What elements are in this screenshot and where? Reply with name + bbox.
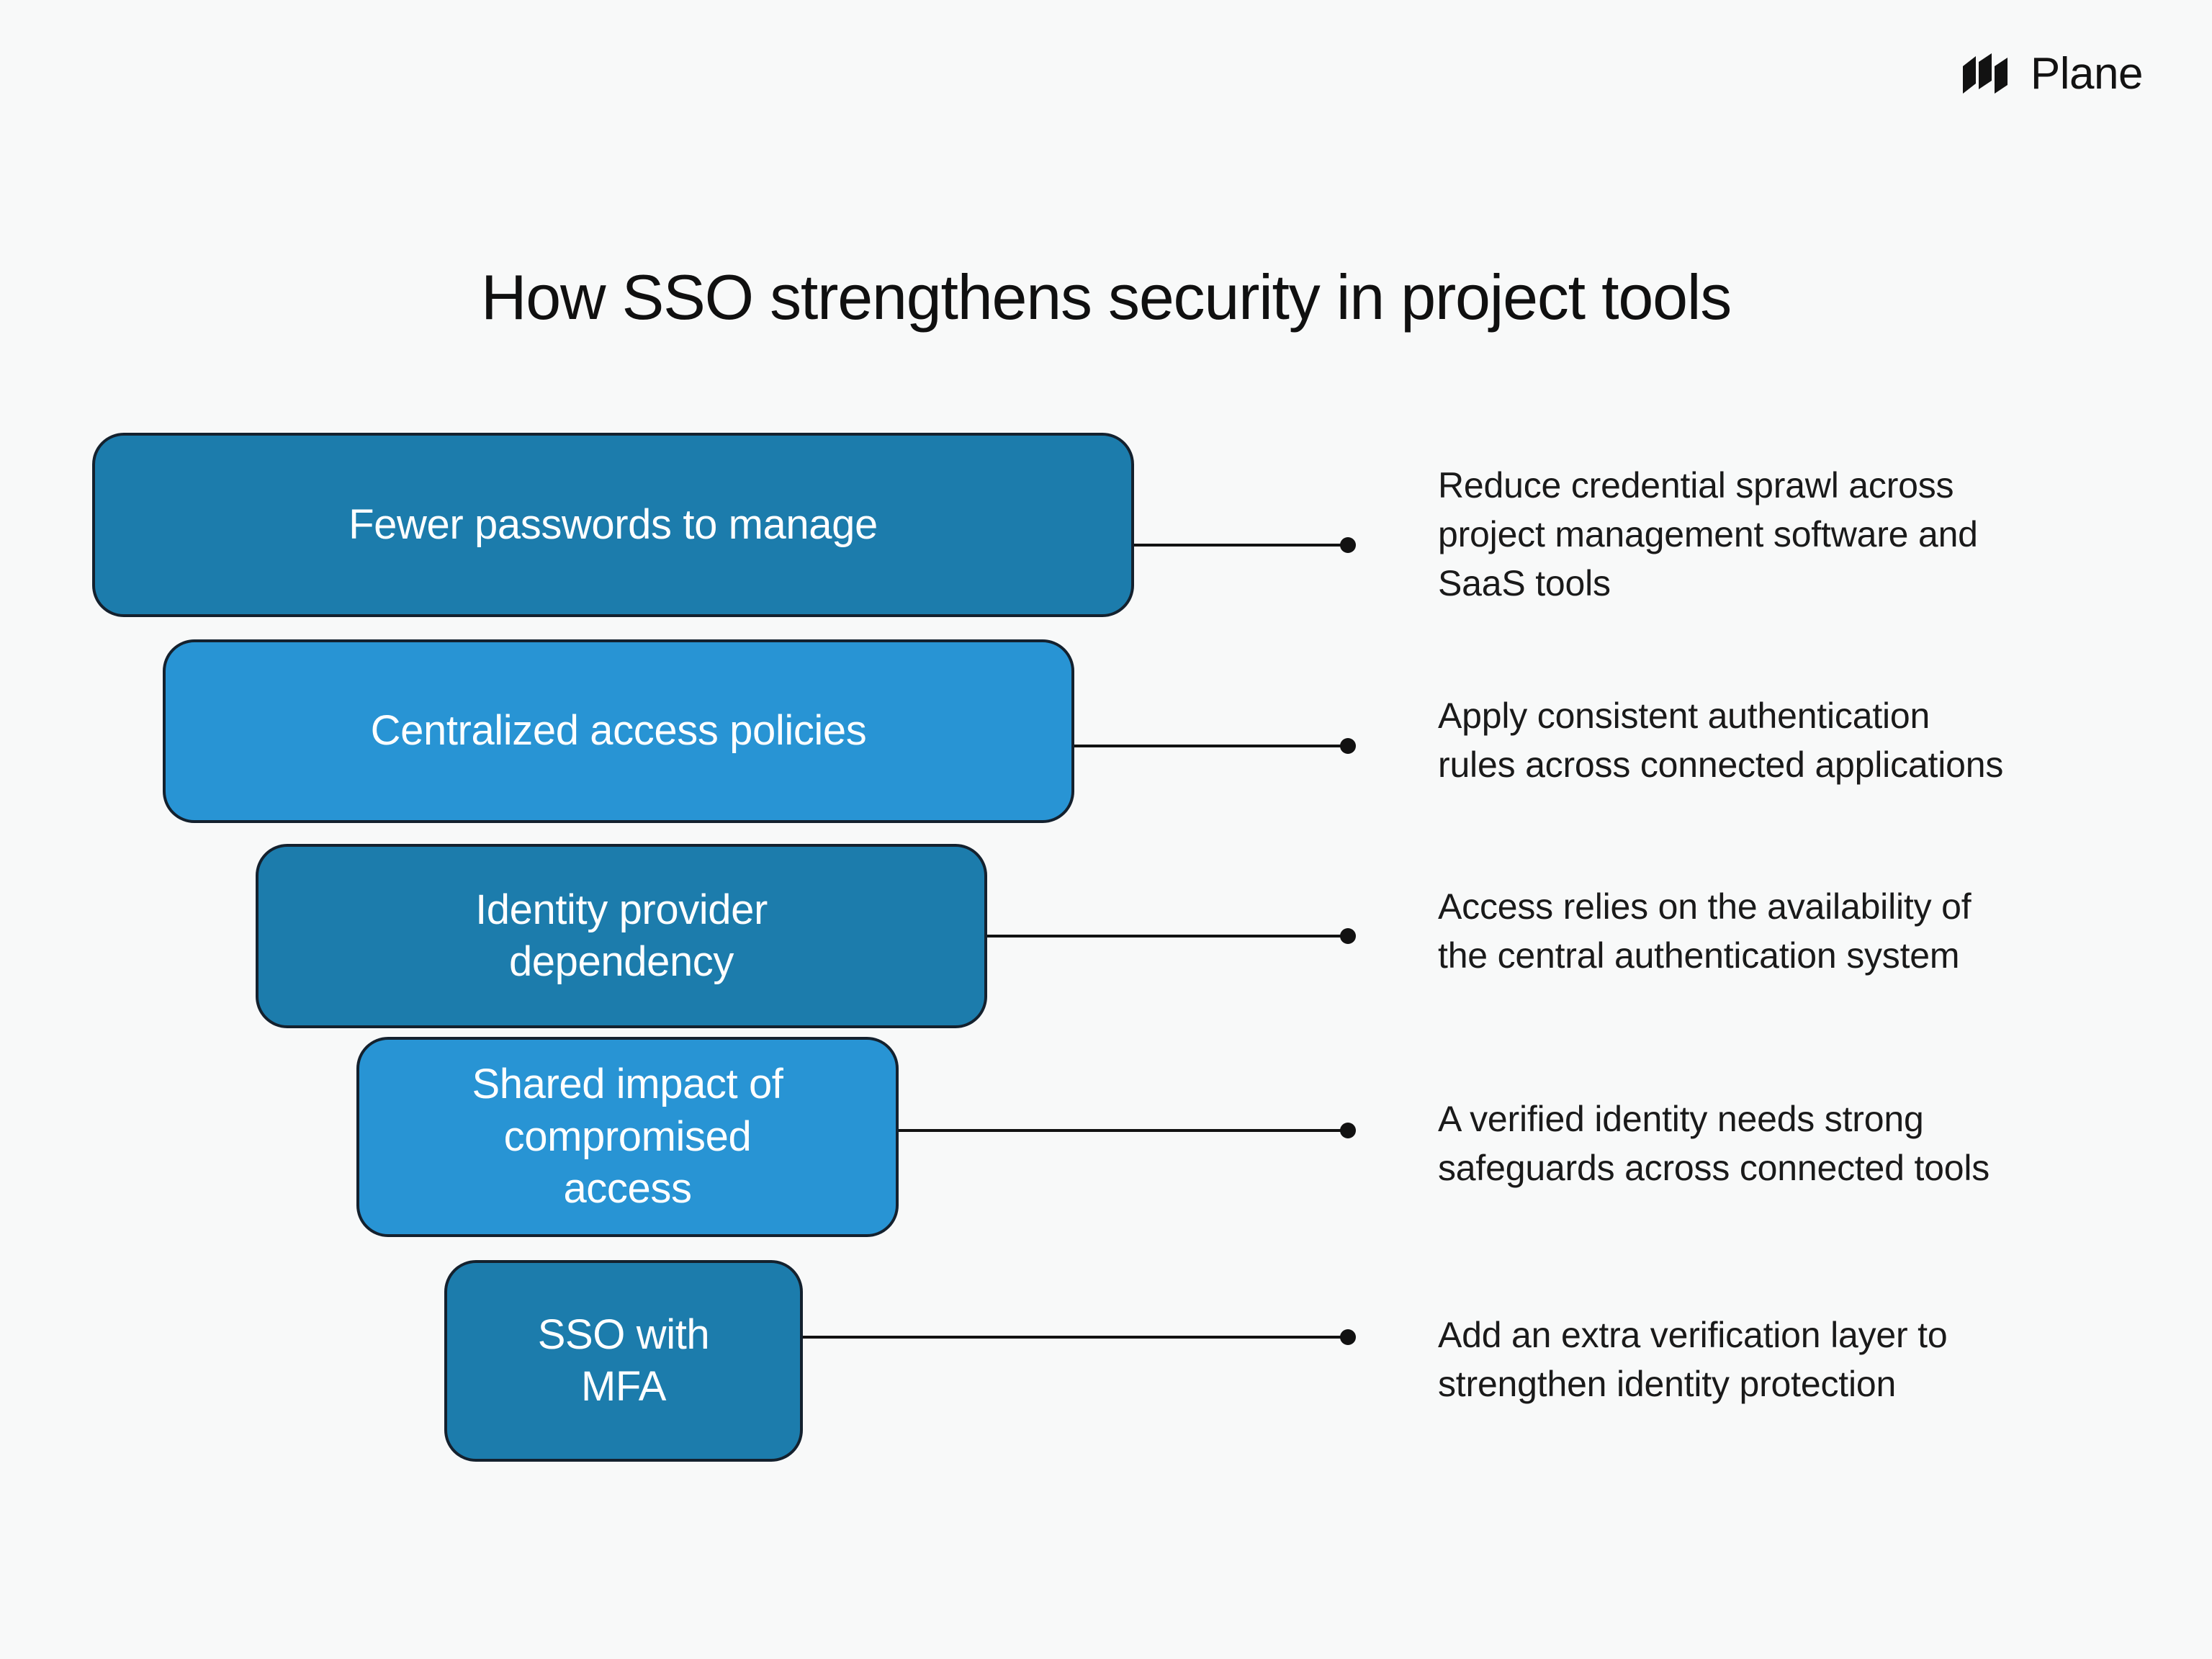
funnel-bar-2-label: Centralized access policies	[371, 705, 867, 757]
funnel-bar-4[interactable]: Shared impact of compromised access	[356, 1037, 899, 1237]
funnel-bar-5[interactable]: SSO with MFA	[444, 1260, 803, 1462]
connector-line-4	[899, 1129, 1341, 1132]
connector-line-1	[1134, 544, 1341, 547]
connector-line-3	[987, 935, 1341, 938]
connector-dot-3	[1340, 928, 1356, 944]
funnel-chart: Fewer passwords to manage Reduce credent…	[0, 0, 2212, 1659]
connector-dot-1	[1340, 537, 1356, 553]
connector-dot-5	[1340, 1329, 1356, 1345]
funnel-bar-1[interactable]: Fewer passwords to manage	[92, 433, 1134, 617]
description-2: Apply consistent authentication rules ac…	[1438, 691, 2158, 789]
funnel-bar-5-label: SSO with MFA	[538, 1309, 710, 1413]
funnel-bar-3-label: Identity provider dependency	[475, 884, 768, 989]
funnel-bar-3[interactable]: Identity provider dependency	[256, 844, 987, 1028]
connector-dot-2	[1340, 738, 1356, 754]
description-5: Add an extra verification layer to stren…	[1438, 1310, 2158, 1408]
description-1: Reduce credential sprawl across project …	[1438, 461, 2158, 608]
funnel-bar-2[interactable]: Centralized access policies	[163, 639, 1074, 823]
funnel-bar-4-label: Shared impact of compromised access	[472, 1058, 783, 1215]
connector-dot-4	[1340, 1123, 1356, 1138]
connector-line-5	[803, 1336, 1341, 1339]
connector-line-2	[1074, 745, 1341, 747]
description-4: A verified identity needs strong safegua…	[1438, 1094, 2158, 1192]
funnel-bar-1-label: Fewer passwords to manage	[349, 499, 878, 552]
description-3: Access relies on the availability of the…	[1438, 882, 2158, 980]
